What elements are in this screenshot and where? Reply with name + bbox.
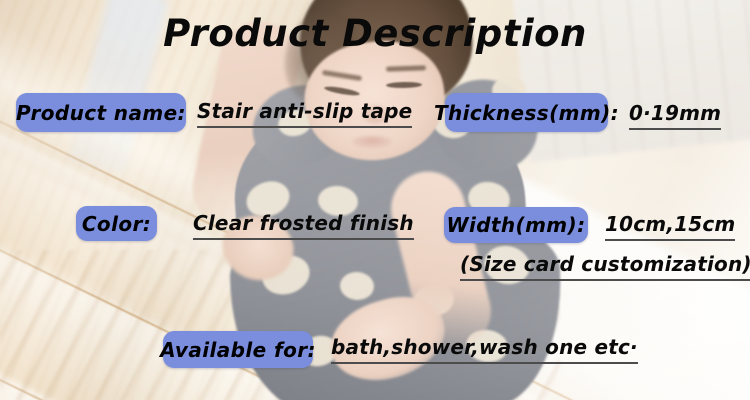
spec-value-color: Clear frosted finish <box>193 211 414 240</box>
spec-value-thickness: 0·19mm <box>629 101 721 130</box>
spec-label-width: Width(mm): <box>444 207 588 243</box>
text-overlay: Product Description Product name: Stair … <box>0 0 750 400</box>
spec-label-product-name: Product name: <box>16 93 186 132</box>
spec-label-available-for: Available for: <box>163 331 313 368</box>
spec-value-width: 10cm,15cm <box>605 212 735 241</box>
spec-value-available-for: bath,shower,wash one etc· <box>331 335 638 364</box>
spec-label-color: Color: <box>76 206 157 241</box>
product-description-banner: Product Description Product name: Stair … <box>0 0 750 400</box>
spec-note-width: (Size card customization) <box>460 252 750 281</box>
spec-label-thickness: Thickness(mm): <box>445 93 608 132</box>
spec-value-product-name: Stair anti-slip tape <box>197 99 412 128</box>
page-title: Product Description <box>0 12 750 55</box>
